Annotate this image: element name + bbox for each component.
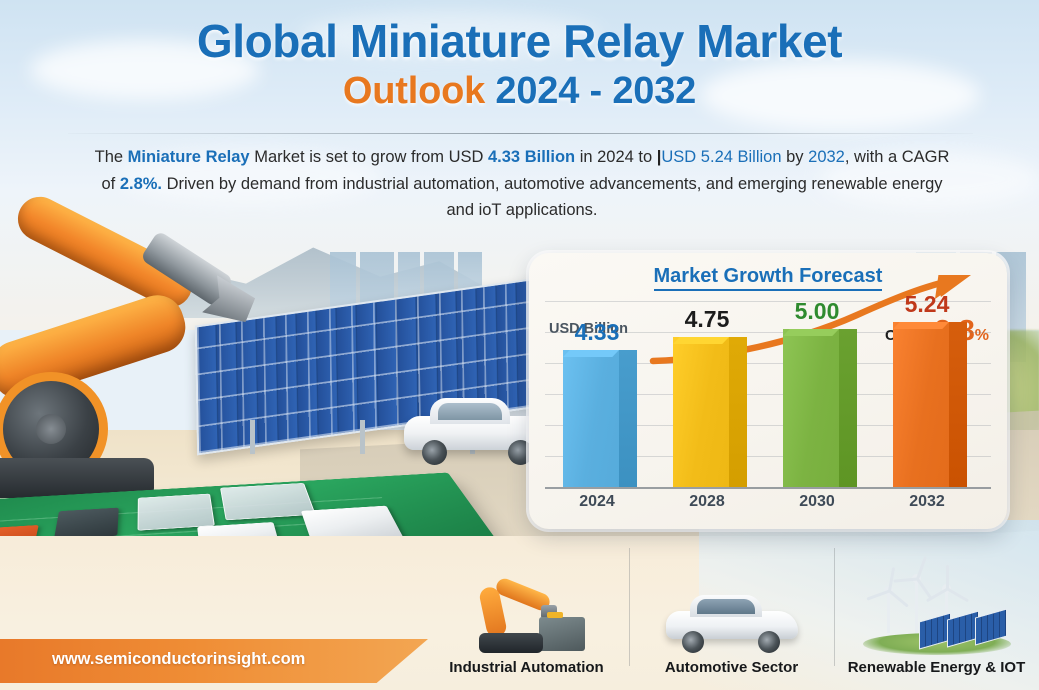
page-title: Global Miniature Relay Market Outlook 20… (0, 18, 1039, 110)
category-renewable-energy-iot[interactable]: Renewable Energy & IOT (834, 542, 1039, 690)
category-label: Industrial Automation (449, 659, 603, 690)
category-label: Renewable Energy & IOT (848, 659, 1026, 690)
description-paragraph: The Miniature Relay Market is set to gro… (92, 144, 952, 224)
desc-highlight-product: Miniature Relay (128, 148, 250, 166)
xtick-2024: 2024 (551, 493, 643, 511)
wind-solar-icon (857, 565, 1017, 659)
title-line-2: Outlook 2024 - 2032 (0, 72, 1039, 110)
bar-front-face (783, 329, 839, 487)
desc-text-1: The (95, 148, 128, 166)
desc-highlight-year-2032: 2032 (808, 148, 845, 166)
desc-text-6: Driven by demand from industrial automat… (162, 175, 943, 220)
bar-2032: 5.24 (893, 322, 967, 487)
robot-arm-background-icon (0, 222, 260, 472)
chart-bars-group: 4.33 4.75 5.00 5.24 (545, 301, 991, 489)
bar-top-face (673, 337, 729, 344)
title-year-range: 2024 - 2032 (495, 70, 696, 112)
chart-x-tick-labels: 2024 2028 2030 2032 (545, 493, 991, 519)
bar-front-face (673, 337, 729, 487)
relay-component (54, 508, 119, 540)
xtick-2028: 2028 (661, 493, 753, 511)
category-industrial-automation[interactable]: Industrial Automation (424, 542, 629, 690)
category-label: Automotive Sector (665, 659, 798, 690)
desc-highlight-cagr: 2.8%. (120, 175, 162, 193)
xtick-2030: 2030 (771, 493, 863, 511)
header-divider (68, 133, 973, 134)
bar-side-face (729, 337, 747, 487)
bar-top-face (783, 329, 839, 336)
website-url[interactable]: www.semiconductorinsight.com (52, 650, 305, 669)
title-outlook-word: Outlook (343, 70, 485, 112)
bar-front-face (563, 350, 619, 487)
desc-text-3: in 2024 to (575, 148, 657, 166)
relay-component (138, 494, 215, 531)
car-icon (652, 565, 812, 659)
category-divider (834, 548, 835, 666)
market-growth-chart-card: Market Growth Forecast USD Billion CAGR … (529, 253, 1007, 529)
bar-side-face (839, 329, 857, 487)
bar-value-label: 5.00 (771, 298, 863, 325)
bar-side-face (949, 322, 967, 487)
bar-side-face (619, 350, 637, 487)
desc-text-4: by (782, 148, 809, 166)
bar-top-face (563, 350, 619, 357)
bar-2028: 4.75 (673, 337, 747, 487)
bar-2024: 4.33 (563, 350, 637, 487)
desc-highlight-value-2032: USD 5.24 Billion (661, 148, 781, 166)
category-automotive-sector[interactable]: Automotive Sector (629, 542, 834, 690)
bar-value-label: 4.33 (551, 319, 643, 346)
category-divider (629, 548, 630, 666)
desc-text-2: Market is set to grow from USD (250, 148, 488, 166)
infographic-poster: Global Miniature Relay Market Outlook 20… (0, 0, 1039, 690)
category-strip: Industrial Automation Automotive Sector (424, 542, 1039, 690)
title-line-1: Global Miniature Relay Market (0, 18, 1039, 64)
desc-highlight-value-2024: 4.33 Billion (488, 148, 575, 166)
bar-top-face (893, 322, 949, 329)
robot-arm-icon (447, 565, 607, 659)
bar-2030: 5.00 (783, 329, 857, 487)
bar-front-face (893, 322, 949, 487)
bar-value-label: 5.24 (881, 291, 973, 318)
xtick-2032: 2032 (881, 493, 973, 511)
solar-leg (360, 420, 365, 454)
bar-value-label: 4.75 (661, 306, 753, 333)
